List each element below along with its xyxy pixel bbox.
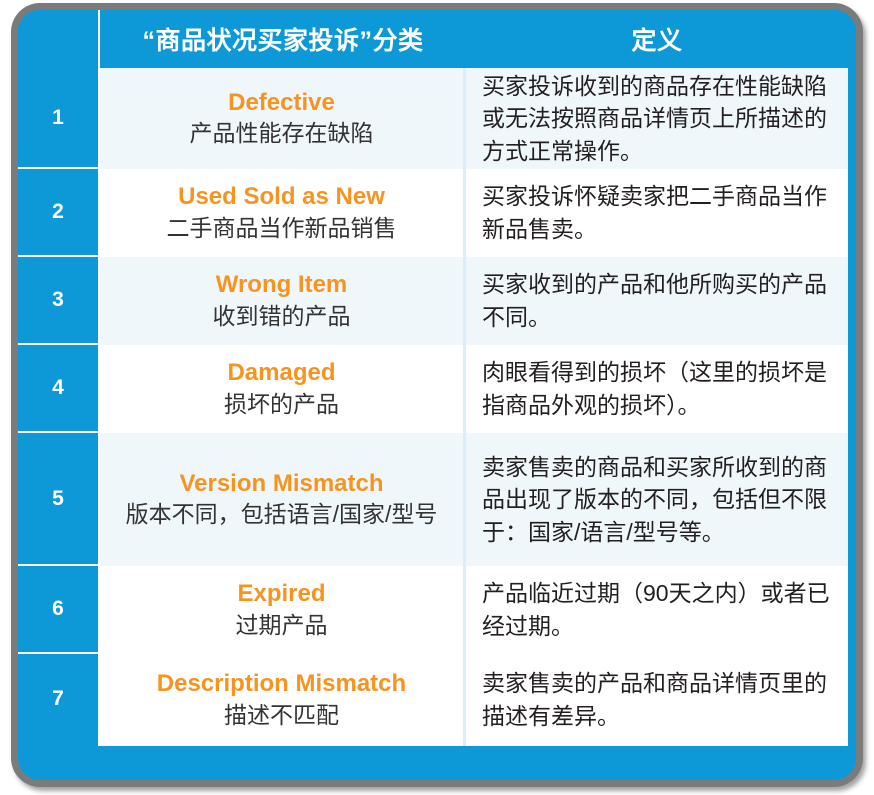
table-row: 4 Damaged 损坏的产品 肉眼看得到的损坏（这里的损坏是指商品外观的损坏）… — [18, 345, 848, 433]
header-number-cell — [18, 10, 98, 68]
row-content: Damaged 损坏的产品 肉眼看得到的损坏（这里的损坏是指商品外观的损坏）。 — [100, 345, 848, 433]
category-cell: Used Sold as New 二手商品当作新品销售 — [100, 169, 466, 257]
table-row: 5 Version Mismatch 版本不同，包括语言/国家/型号 卖家售卖的… — [18, 433, 848, 566]
category-english: Version Mismatch — [179, 470, 383, 498]
row-number: 2 — [18, 169, 98, 257]
row-content: Defective 产品性能存在缺陷 买家投诉收到的商品存在性能缺陷或无法按照商… — [100, 68, 848, 169]
table-inner: “商品状况买家投诉”分类 定义 1 Defective 产品性能存在缺陷 买家投… — [18, 10, 856, 780]
definition-cell: 买家收到的产品和他所购买的产品不同。 — [466, 257, 848, 345]
row-content: Used Sold as New 二手商品当作新品销售 买家投诉怀疑卖家把二手商… — [100, 169, 848, 257]
category-english: Defective — [228, 89, 335, 117]
table-row: 2 Used Sold as New 二手商品当作新品销售 买家投诉怀疑卖家把二… — [18, 169, 848, 257]
category-chinese: 过期产品 — [236, 611, 328, 640]
definition-text: 肉眼看得到的损坏（这里的损坏是指商品外观的损坏）。 — [482, 356, 834, 421]
definition-cell: 卖家售卖的产品和商品详情页里的描述有差异。 — [466, 654, 848, 746]
definition-cell: 产品临近过期（90天之内）或者已经过期。 — [466, 566, 848, 654]
header-category-label: “商品状况买家投诉”分类 — [100, 10, 466, 68]
row-number: 7 — [18, 654, 98, 746]
row-number: 4 — [18, 345, 98, 433]
row-number: 5 — [18, 433, 98, 566]
definition-text: 买家收到的产品和他所购买的产品不同。 — [482, 268, 834, 333]
header-definition-label: 定义 — [466, 10, 848, 68]
row-content: Description Mismatch 描述不匹配 卖家售卖的产品和商品详情页… — [100, 654, 848, 746]
category-english: Damaged — [227, 359, 335, 387]
definition-cell: 卖家售卖的商品和买家所收到的商品出现了版本的不同，包括但不限于：国家/语言/型号… — [466, 433, 848, 566]
category-english: Description Mismatch — [157, 670, 406, 698]
category-chinese: 产品性能存在缺陷 — [190, 119, 374, 148]
complaint-category-table: “商品状况买家投诉”分类 定义 1 Defective 产品性能存在缺陷 买家投… — [18, 10, 856, 780]
category-cell: Expired 过期产品 — [100, 566, 466, 654]
category-chinese: 版本不同，包括语言/国家/型号 — [126, 500, 438, 529]
table-row: 3 Wrong Item 收到错的产品 买家收到的产品和他所购买的产品不同。 — [18, 257, 848, 345]
page-root: “商品状况买家投诉”分类 定义 1 Defective 产品性能存在缺陷 买家投… — [0, 0, 874, 795]
category-cell: Damaged 损坏的产品 — [100, 345, 466, 433]
definition-text: 买家投诉怀疑卖家把二手商品当作新品售卖。 — [482, 180, 834, 245]
table-row: 6 Expired 过期产品 产品临近过期（90天之内）或者已经过期。 — [18, 566, 848, 654]
category-cell: Description Mismatch 描述不匹配 — [100, 654, 466, 746]
category-cell: Defective 产品性能存在缺陷 — [100, 68, 466, 169]
category-chinese: 收到错的产品 — [213, 302, 351, 331]
row-number: 3 — [18, 257, 98, 345]
category-chinese: 描述不匹配 — [224, 701, 339, 730]
definition-cell: 肉眼看得到的损坏（这里的损坏是指商品外观的损坏）。 — [466, 345, 848, 433]
category-english: Used Sold as New — [178, 183, 385, 211]
definition-text: 卖家售卖的商品和买家所收到的商品出现了版本的不同，包括但不限于：国家/语言/型号… — [482, 451, 834, 549]
table-row: 7 Description Mismatch 描述不匹配 卖家售卖的产品和商品详… — [18, 654, 848, 746]
category-chinese: 二手商品当作新品销售 — [167, 214, 397, 243]
category-chinese: 损坏的产品 — [224, 390, 339, 419]
definition-cell: 买家投诉怀疑卖家把二手商品当作新品售卖。 — [466, 169, 848, 257]
definition-text: 产品临近过期（90天之内）或者已经过期。 — [482, 577, 834, 642]
table-body: 1 Defective 产品性能存在缺陷 买家投诉收到的商品存在性能缺陷或无法按… — [18, 68, 848, 772]
row-content: Version Mismatch 版本不同，包括语言/国家/型号 卖家售卖的商品… — [100, 433, 848, 566]
category-english: Expired — [237, 580, 325, 608]
category-english: Wrong Item — [216, 271, 348, 299]
definition-cell: 买家投诉收到的商品存在性能缺陷或无法按照商品详情页上所描述的方式正常操作。 — [466, 68, 848, 169]
row-content: Expired 过期产品 产品临近过期（90天之内）或者已经过期。 — [100, 566, 848, 654]
table-header-row: “商品状况买家投诉”分类 定义 — [18, 10, 848, 68]
category-cell: Version Mismatch 版本不同，包括语言/国家/型号 — [100, 433, 466, 566]
table-row: 1 Defective 产品性能存在缺陷 买家投诉收到的商品存在性能缺陷或无法按… — [18, 68, 848, 169]
row-number: 6 — [18, 566, 98, 654]
category-cell: Wrong Item 收到错的产品 — [100, 257, 466, 345]
row-number: 1 — [18, 68, 98, 169]
definition-text: 买家投诉收到的商品存在性能缺陷或无法按照商品详情页上所描述的方式正常操作。 — [482, 70, 834, 168]
row-content: Wrong Item 收到错的产品 买家收到的产品和他所购买的产品不同。 — [100, 257, 848, 345]
definition-text: 卖家售卖的产品和商品详情页里的描述有差异。 — [482, 667, 834, 732]
